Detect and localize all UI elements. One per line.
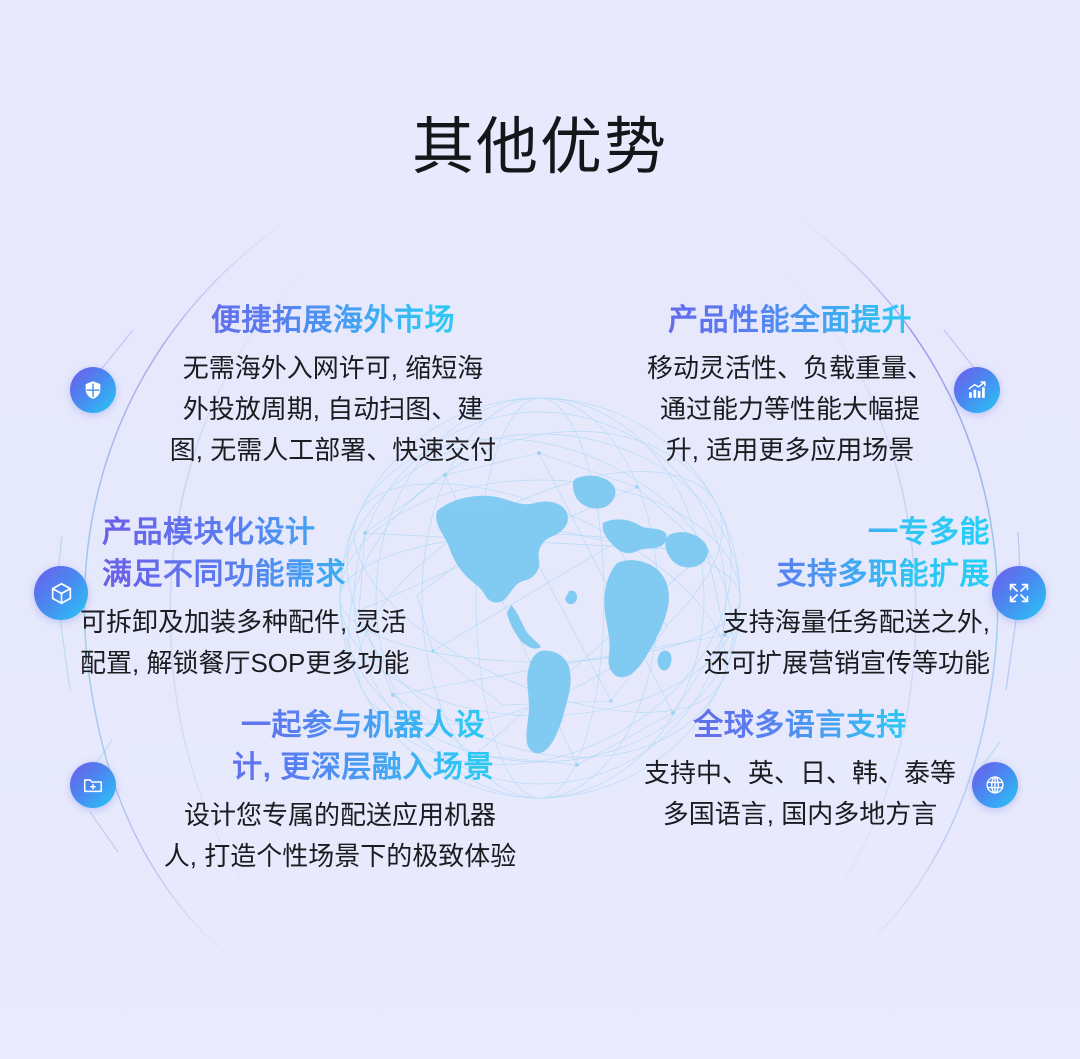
feature-language-body: 支持中、英、日、韩、泰等 多国语言, 国内多地方言 — [620, 753, 980, 835]
feature-overseas-body: 无需海外入网许可, 缩短海 外投放周期, 自动扫图、建 图, 无需人工部署、快速… — [120, 348, 520, 471]
feature-codesign: 一起参与机器人设 计, 更深层融入场景 设计您专属的配送应用机器 人, 打造个性… — [120, 705, 560, 877]
feature-performance-body: 移动灵活性、负载重量、 通过能力等性能大幅提 升, 适用更多应用场景 — [600, 348, 980, 471]
feature-multifunction-heading: 一专多能 支持多职能扩展 — [640, 512, 990, 596]
feature-language-heading: 全球多语言支持 — [620, 705, 980, 747]
expand-arrows-icon — [992, 566, 1046, 620]
feature-performance: 产品性能全面提升 移动灵活性、负载重量、 通过能力等性能大幅提 升, 适用更多应… — [600, 300, 980, 471]
feature-codesign-body: 设计您专属的配送应用机器 人, 打造个性场景下的极致体验 — [120, 795, 560, 877]
advantages-infographic: 其他优势 便捷拓展海外市场 无需海外入网许可, 缩短海 外投放周期, 自动扫图、… — [0, 0, 1080, 1059]
shield-icon — [70, 367, 116, 413]
feature-language: 全球多语言支持 支持中、英、日、韩、泰等 多国语言, 国内多地方言 — [620, 705, 980, 835]
cube-icon — [34, 566, 88, 620]
feature-codesign-heading: 一起参与机器人设 计, 更深层融入场景 — [120, 705, 560, 789]
chart-up-icon — [954, 367, 1000, 413]
feature-performance-heading: 产品性能全面提升 — [600, 300, 980, 342]
page-title: 其他优势 — [0, 112, 1080, 184]
feature-modular: 产品模块化设计 满足不同功能需求 可拆卸及加装多种配件, 灵活 配置, 解锁餐厅… — [80, 512, 480, 684]
feature-modular-body: 可拆卸及加装多种配件, 灵活 配置, 解锁餐厅SOP更多功能 — [80, 602, 480, 684]
feature-modular-heading: 产品模块化设计 满足不同功能需求 — [80, 512, 480, 596]
feature-overseas-heading: 便捷拓展海外市场 — [120, 300, 520, 342]
feature-multifunction: 一专多能 支持多职能扩展 支持海量任务配送之外, 还可扩展营销宣传等功能 — [640, 512, 990, 684]
globe-icon — [972, 762, 1018, 808]
feature-multifunction-body: 支持海量任务配送之外, 还可扩展营销宣传等功能 — [640, 602, 990, 684]
folder-plus-icon — [70, 762, 116, 808]
feature-overseas: 便捷拓展海外市场 无需海外入网许可, 缩短海 外投放周期, 自动扫图、建 图, … — [120, 300, 520, 471]
